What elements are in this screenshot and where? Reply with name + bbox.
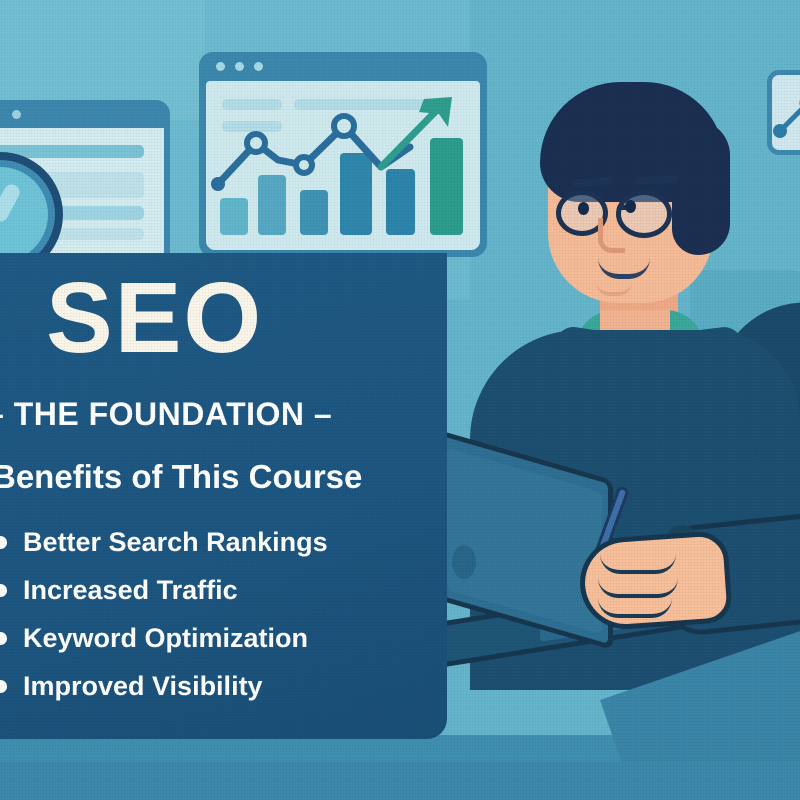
banner-canvas: SEO – THE FOUNDATION – Benefits of This … [0,0,800,800]
list-item-label: Improved Visibility [23,671,263,702]
list-item-label: Keyword Optimization [23,623,308,654]
list-item: Keyword Optimization [0,614,454,662]
line-chart-node-icon [772,75,800,150]
desk-front-edge [0,762,800,800]
person-finger [598,594,672,618]
analytics-browser-body [206,81,480,250]
bullet-dot-icon [0,632,7,645]
page-subtitle: – THE FOUNDATION – [0,396,446,433]
page-title: SEO [46,268,446,368]
person-eye-left [578,202,589,215]
list-item: Better Search Rankings [0,518,454,566]
bullet-dot-icon [0,680,7,693]
benefits-list: Better Search Rankings Increased Traffic… [0,518,454,710]
trend-line-chart [206,81,480,250]
window-dot-icon [235,62,244,71]
person-eye-right [625,200,636,213]
person-finger [600,548,676,574]
person-hair-side [672,120,730,255]
laptop-logo [452,545,476,579]
benefits-heading: Benefits of This Course [0,458,452,496]
window-dot-icon [254,62,263,71]
bullet-dot-icon [0,536,7,549]
bullet-dot-icon [0,584,7,597]
list-item-label: Better Search Rankings [23,527,328,558]
person-nose [598,218,625,253]
mini-analytics-card [767,70,800,155]
window-dot-icon [216,62,225,71]
window-dot-icon [12,110,21,119]
list-item: Improved Visibility [0,662,454,710]
list-item-label: Increased Traffic [23,575,238,606]
list-item: Increased Traffic [0,566,454,614]
